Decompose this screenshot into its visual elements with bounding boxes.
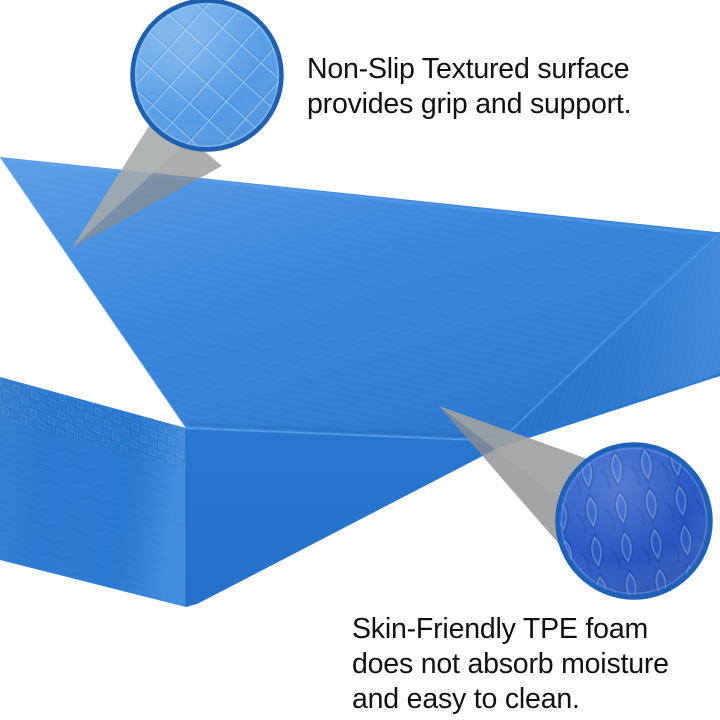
bottom-callout-group xyxy=(439,406,717,602)
top-callout-text: Non-Slip Textured surface provides grip … xyxy=(307,52,707,122)
left-face-sheen xyxy=(0,377,186,607)
bottom-callout-text: Skin-Friendly TPE foam does not absorb m… xyxy=(352,612,718,716)
product-infographic: Non-Slip Textured surface provides grip … xyxy=(0,0,720,720)
texture-closeup-bottom xyxy=(555,442,717,602)
